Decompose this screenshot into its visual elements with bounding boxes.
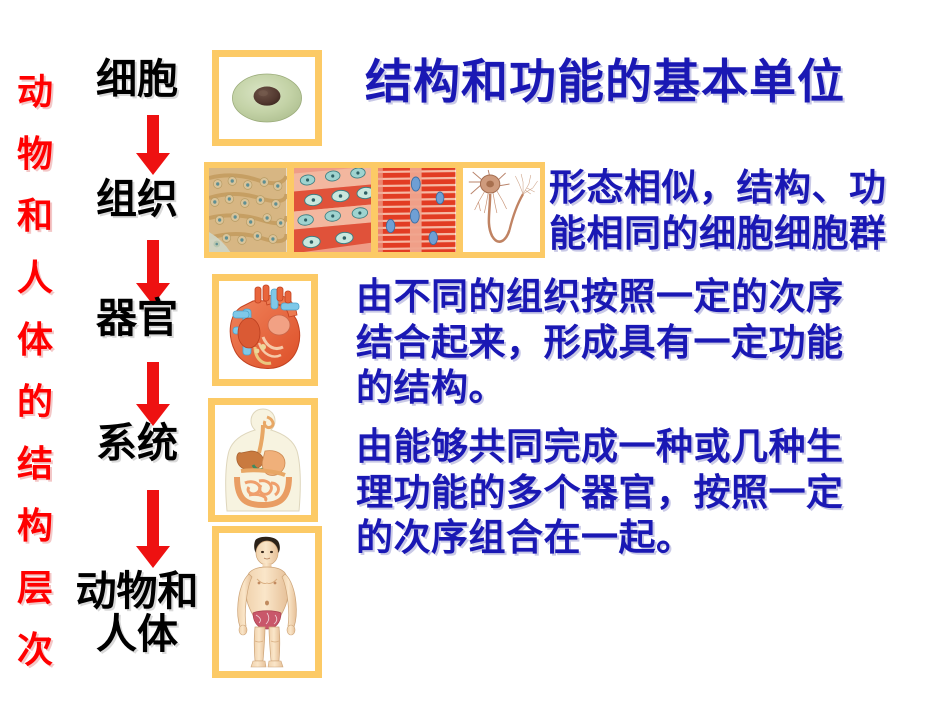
nerve-tissue-icon xyxy=(463,168,541,252)
hierarchy-label-system: 系统 xyxy=(82,422,192,465)
picture-frame-cell xyxy=(212,50,322,146)
hierarchy-label-organism: 动物和人体 xyxy=(62,570,212,657)
digestive-system-diagram-icon xyxy=(215,405,311,515)
picture-frame-tissue-strip xyxy=(204,162,545,258)
hierarchy-label-tissue: 组织 xyxy=(82,178,192,221)
organ-definition-line-2: 结合起来，形成具有一定功能 xyxy=(356,320,844,366)
vertical-red-title: 动物和人体的结构层次 xyxy=(6,62,64,682)
striated-muscle-tissue-icon xyxy=(378,168,456,252)
system-definition-line-3: 的次序组合在一起。 xyxy=(356,515,844,561)
slide-canvas: 动物和人体的结构层次 细胞 组织 器官 系统 动物和人体 xyxy=(0,0,950,713)
picture-frame-organism xyxy=(212,526,322,678)
slide-title: 结构和功能的基本单位 xyxy=(365,57,845,109)
system-definition-line-2: 理功能的多个器官，按照一定 xyxy=(356,470,844,516)
organ-definition-line-1: 由不同的组织按照一定的次序 xyxy=(356,274,844,320)
epithelial-tissue-icon xyxy=(209,168,287,252)
organ-definition-line-3: 的结构。 xyxy=(356,365,844,411)
picture-frame-system xyxy=(208,398,318,522)
organ-definition-text: 由不同的组织按照一定的次序 结合起来，形成具有一定功能 的结构。 xyxy=(356,274,844,411)
hierarchy-label-cell: 细胞 xyxy=(82,58,192,101)
hierarchy-label-organ: 器官 xyxy=(82,297,192,340)
smooth-muscle-tissue-icon xyxy=(294,168,372,252)
tissue-definition-text: 形态相似，结构、功 能相同的细胞细胞群 xyxy=(549,165,887,256)
cell-diagram-icon xyxy=(219,57,315,139)
system-definition-text: 由能够共同完成一种或几种生 理功能的多个器官，按照一定 的次序组合在一起。 xyxy=(356,424,844,561)
tissue-definition-line-2: 能相同的细胞细胞群 xyxy=(549,211,887,257)
system-definition-line-1: 由能够共同完成一种或几种生 xyxy=(356,424,844,470)
human-body-diagram-icon xyxy=(219,533,315,671)
tissue-definition-line-1: 形态相似，结构、功 xyxy=(549,165,887,211)
picture-frame-organ xyxy=(212,274,318,386)
heart-diagram-icon xyxy=(219,281,311,379)
